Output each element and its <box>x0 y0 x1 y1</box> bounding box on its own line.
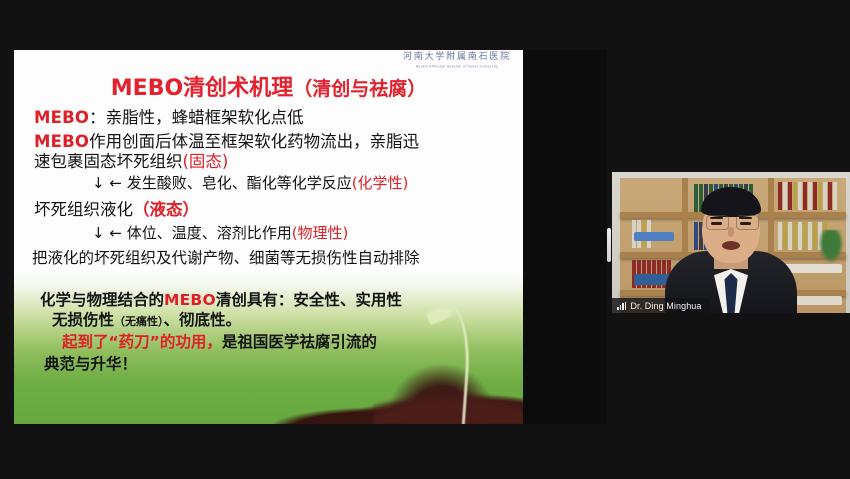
participant-name-label: Dr. Ding Minghua <box>612 298 709 313</box>
slide-line-10: 起到了“药刀”的功用，是祖国医学祛腐引流的 <box>62 330 513 352</box>
panel-edge-handle[interactable] <box>607 228 611 262</box>
slide-line-1: MEBO：亲脂性，蜂蜡框架软化点低 <box>34 104 513 128</box>
mebo-label: MEBO <box>34 108 89 127</box>
mebo-label: MEBO <box>164 291 216 309</box>
participant-video-tile[interactable]: Dr. Ding Minghua <box>612 172 850 313</box>
slide-line-4: ↓ ← 发生酸败、皂化、酯化等化学反应(化学性) <box>92 172 513 193</box>
plant <box>818 230 844 264</box>
slide-body: MEBO清创术机理（清创与祛腐） MEBO：亲脂性，蜂蜡框架软化点低 MEBO作… <box>14 50 523 424</box>
slide-line-9-small: （无痛性） <box>114 315 164 328</box>
participant-name: Dr. Ding Minghua <box>630 301 701 311</box>
slide-line-6-text: 体位、温度、溶剂比作用 <box>127 224 292 242</box>
slide-line-9-tail: 、彻底性。 <box>164 311 242 329</box>
conference-stage: 河南大学附属南石医院 Nanshi Affiliated Hospital of… <box>0 0 850 479</box>
eye <box>711 222 722 225</box>
slide-line-7: 把液化的坏死组织及代谢产物、细菌等无损伤性自动排除 <box>32 246 513 268</box>
slide-title-main: MEBO清创术机理 <box>111 76 293 101</box>
speaker-figure <box>665 202 797 313</box>
slide-line-10-text: 是祖国医学祛腐引流的 <box>222 333 377 351</box>
slide-line-8-post: 清创具有：安全性、实用性 <box>216 291 402 309</box>
slide-line-4-text: 发生酸败、皂化、酯化等化学反应 <box>127 174 352 192</box>
slide-line-8: 化学与物理结合的MEBO清创具有：安全性、实用性 <box>40 288 513 310</box>
signal-bars-icon <box>617 302 626 310</box>
eye <box>740 222 751 225</box>
flow-arrow-icon: ↓ ← <box>92 224 122 242</box>
slide-line-4-emphasis: (化学性) <box>352 174 409 192</box>
shared-slide[interactable]: 河南大学附属南石医院 Nanshi Affiliated Hospital of… <box>14 50 523 424</box>
slide-line-1-text: ：亲脂性，蜂蜡框架软化点低 <box>89 108 304 127</box>
slide-line-9: 无损伤性（无痛性）、彻底性。 <box>52 308 513 330</box>
slide-title-paren: （清创与祛腐） <box>293 78 426 100</box>
slide-title: MEBO清创术机理（清创与祛腐） <box>14 70 523 102</box>
slide-line-3-text: 速包裹固态坏死组织 <box>34 152 183 171</box>
slide-line-8-pre: 化学与物理结合的 <box>40 291 164 309</box>
stage-gutter <box>523 50 607 424</box>
slide-line-3-emphasis: (固态) <box>183 152 229 171</box>
mouth <box>722 241 740 250</box>
slide-line-9-main: 无损伤性 <box>52 311 114 329</box>
slide-line-6-emphasis: (物理性) <box>292 224 349 242</box>
slide-line-5-text: 坏死组织液化 <box>34 200 133 219</box>
nose <box>728 227 734 237</box>
slide-line-5-emphasis: （液态） <box>133 200 199 219</box>
slide-line-5: 坏死组织液化（液态） <box>34 196 513 220</box>
slide-line-6: ↓ ← 体位、温度、溶剂比作用(物理性) <box>92 222 513 243</box>
slide-line-10-emphasis: 起到了“药刀”的功用， <box>62 333 222 351</box>
video-scene <box>612 172 850 313</box>
flow-arrow-icon: ↓ ← <box>92 174 122 192</box>
slide-line-11: 典范与升华！ <box>44 352 513 374</box>
slide-line-3: 速包裹固态坏死组织(固态) <box>34 148 513 172</box>
